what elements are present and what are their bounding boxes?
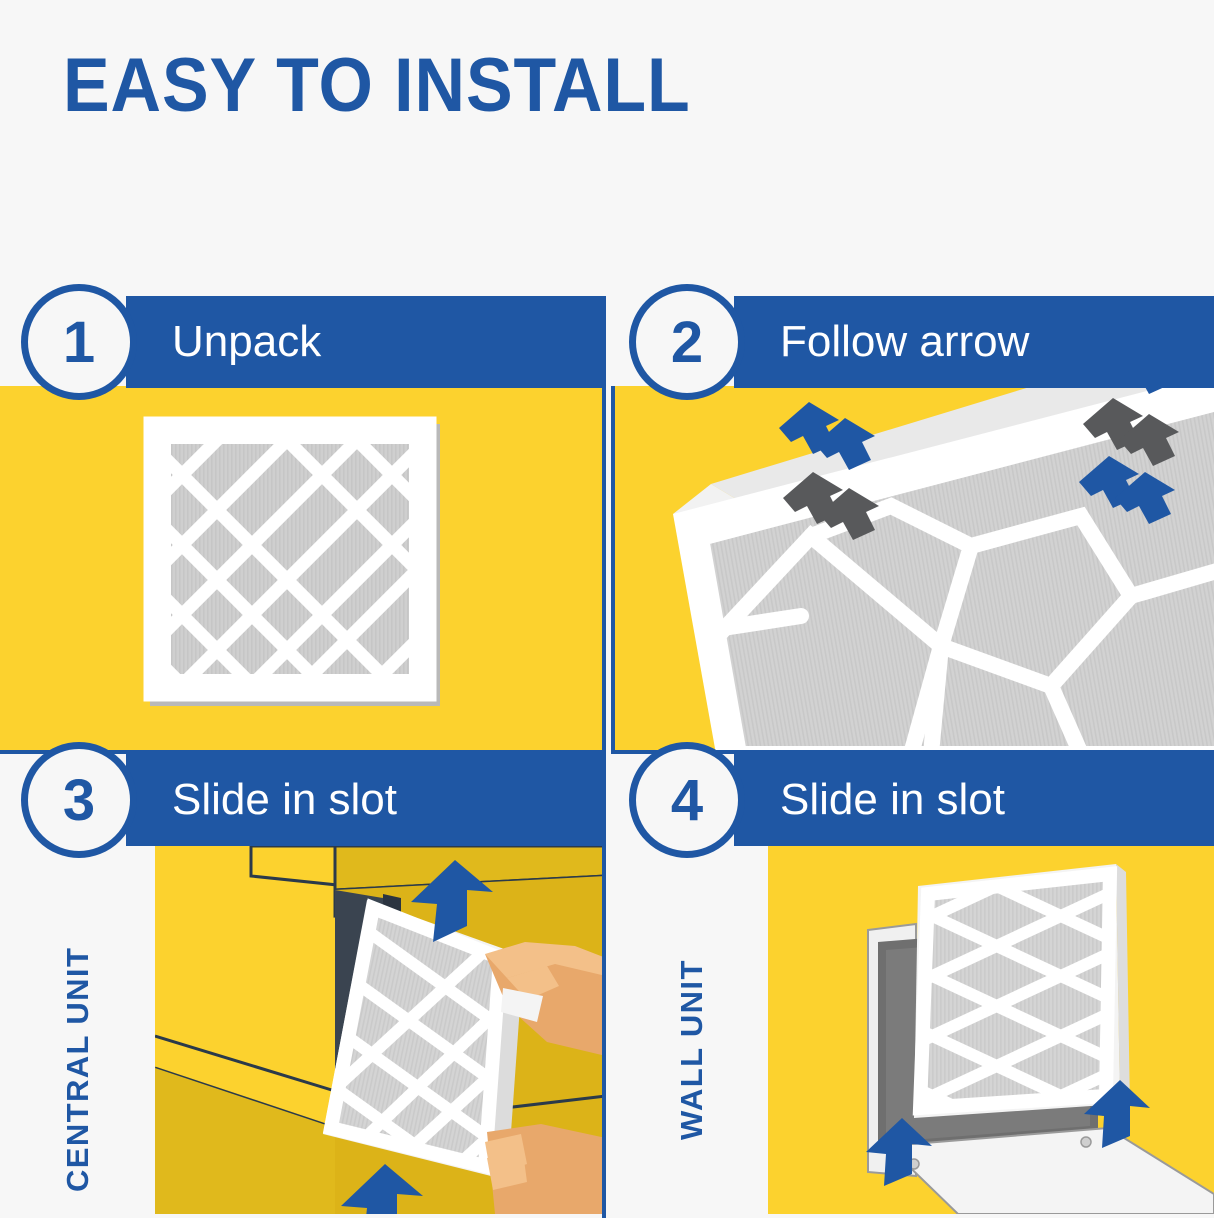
- step-2-header[interactable]: Follow arrow: [734, 296, 1214, 388]
- step-3-side-label: CENTRAL UNIT: [62, 947, 93, 1192]
- wall-unit-illustration: [768, 846, 1214, 1214]
- step-2-number-badge: 2: [629, 284, 745, 400]
- step-1-number-badge: 1: [21, 284, 137, 400]
- step-4-illustration-area: [768, 846, 1214, 1214]
- step-2-label: Follow arrow: [780, 320, 1029, 364]
- page-title: EASY TO INSTALL: [63, 48, 691, 124]
- central-unit-illustration: [155, 846, 606, 1214]
- step-3-header[interactable]: Slide in slot: [126, 754, 606, 846]
- filter-tilted-illustration: [611, 386, 1214, 754]
- step-3-illustration-area: [155, 846, 606, 1214]
- step-1-header[interactable]: Unpack: [126, 296, 606, 388]
- step-2-illustration-area: [611, 386, 1214, 754]
- hand-lower: [485, 1124, 606, 1214]
- step-1-illustration-area: [0, 386, 606, 754]
- step-4-label: Slide in slot: [780, 778, 1005, 822]
- step-4-number-badge: 4: [629, 742, 745, 858]
- filter-front-illustration: [0, 386, 606, 754]
- infographic-root: EASY TO INSTALL: [0, 0, 1214, 1214]
- step-3-number-badge: 3: [21, 742, 137, 858]
- step-4-header[interactable]: Slide in slot: [734, 754, 1214, 846]
- step-3-label: Slide in slot: [172, 778, 397, 822]
- step-4-side-label: WALL UNIT: [676, 959, 707, 1140]
- step-1-label: Unpack: [172, 320, 321, 364]
